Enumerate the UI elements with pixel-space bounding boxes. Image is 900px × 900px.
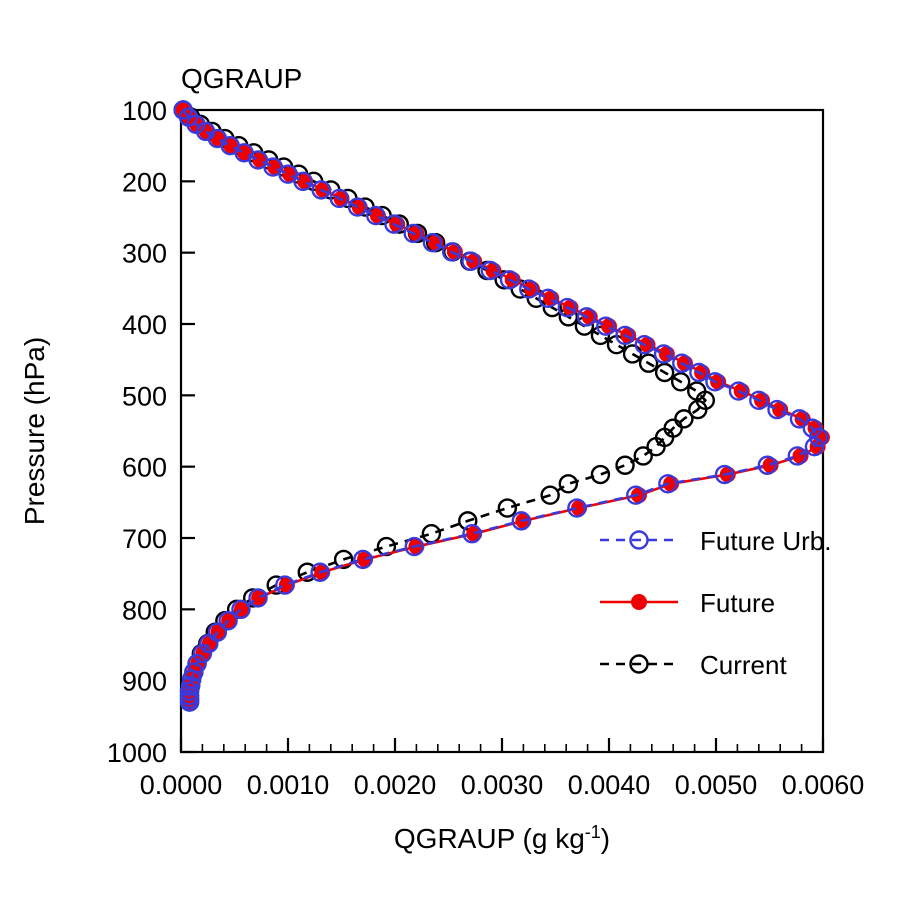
chart-page: QGRAUP 1002003004005006007008009001000 0… xyxy=(0,0,900,900)
x-tick-label: 0.0010 xyxy=(247,770,330,800)
legend-marker-swatch xyxy=(631,594,647,610)
y-tick-label: 900 xyxy=(122,667,167,697)
y-tick-label: 200 xyxy=(122,167,167,197)
x-axis-title-tail: ) xyxy=(601,823,610,854)
x-axis-title-superscript: -1 xyxy=(585,822,601,842)
x-tick-label: 0.0000 xyxy=(140,770,223,800)
y-tick-label: 1000 xyxy=(107,738,167,768)
x-axis-title: QGRAUP (g kg-1) xyxy=(394,822,610,854)
y-axis-title: Pressure (hPa) xyxy=(19,337,50,525)
y-tick-label: 700 xyxy=(122,524,167,554)
x-axis-tick-labels: 0.00000.00100.00200.00300.00400.00500.00… xyxy=(140,770,865,800)
y-tick-label: 800 xyxy=(122,595,167,625)
x-axis-title-main: QGRAUP (g kg xyxy=(394,823,585,854)
legend-label: Current xyxy=(700,650,787,680)
x-tick-label: 0.0040 xyxy=(568,770,651,800)
y-tick-label: 500 xyxy=(122,381,167,411)
x-tick-label: 0.0050 xyxy=(675,770,758,800)
page-title: QGRAUP xyxy=(181,63,302,94)
legend-label: Future xyxy=(700,588,775,618)
y-tick-label: 400 xyxy=(122,310,167,340)
x-tick-label: 0.0030 xyxy=(461,770,544,800)
y-tick-label: 600 xyxy=(122,453,167,483)
legend-label: Future Urb. xyxy=(700,526,832,556)
x-tick-label: 0.0060 xyxy=(782,770,865,800)
x-tick-label: 0.0020 xyxy=(354,770,437,800)
qgraup-profile-chart: QGRAUP 1002003004005006007008009001000 0… xyxy=(0,0,900,900)
y-tick-label: 100 xyxy=(122,96,167,126)
y-tick-label: 300 xyxy=(122,239,167,269)
